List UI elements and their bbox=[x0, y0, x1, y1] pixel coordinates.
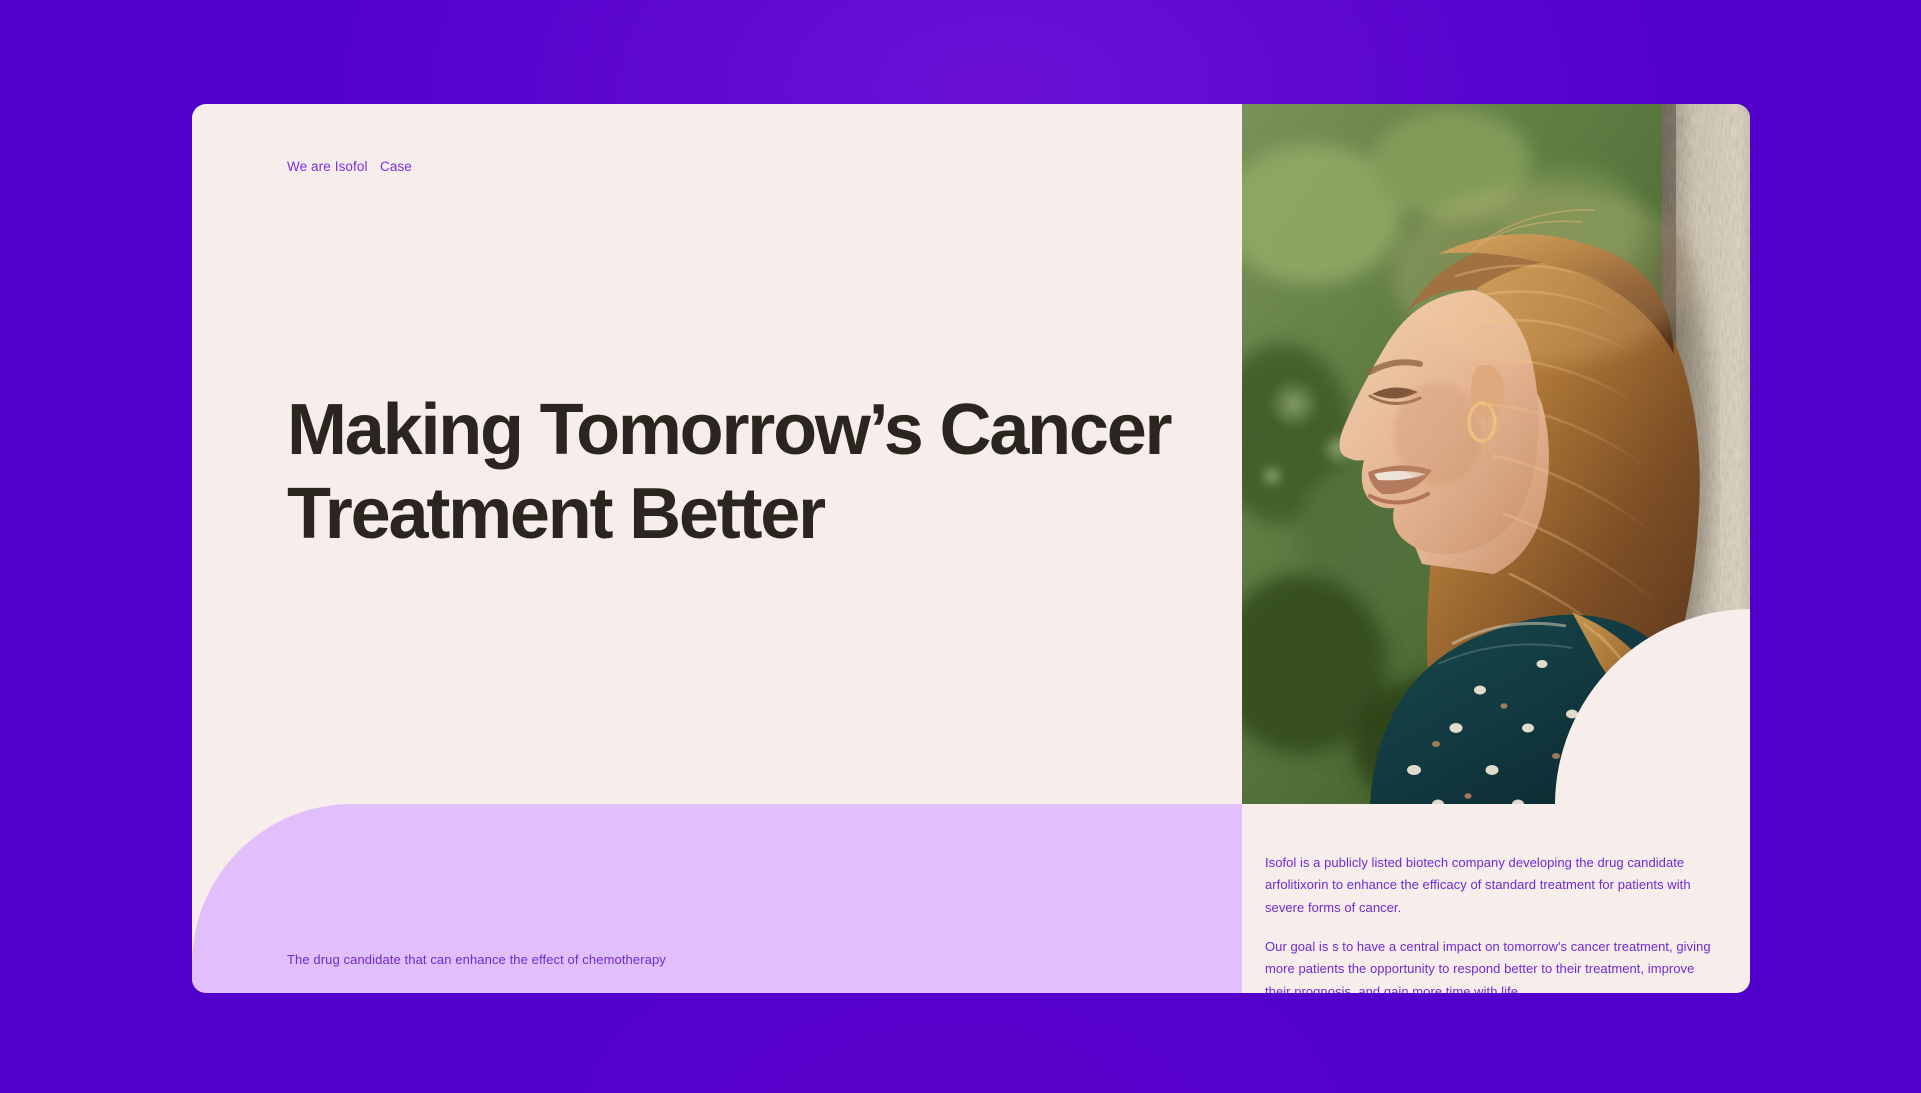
about-paragraph-1: Isofol is a publicly listed biotech comp… bbox=[1265, 852, 1717, 919]
about-copy: Isofol is a publicly listed biotech comp… bbox=[1265, 852, 1717, 993]
hero-photo bbox=[1242, 104, 1750, 804]
main-navigation: We are Isofol Case bbox=[287, 159, 412, 174]
hero-right-column: Isofol is a publicly listed biotech comp… bbox=[1242, 104, 1750, 993]
nav-item-case[interactable]: Case bbox=[380, 159, 412, 174]
hero-card: We are Isofol Case Making Tomorrow’s Can… bbox=[192, 104, 1750, 993]
nav-item-we-are-isofol[interactable]: We are Isofol bbox=[287, 159, 380, 174]
hero-caption: The drug candidate that can enhance the … bbox=[287, 952, 666, 967]
page-title: Making Tomorrow’s Cancer Treatment Bette… bbox=[287, 389, 1187, 556]
hero-left-column: We are Isofol Case Making Tomorrow’s Can… bbox=[192, 104, 1242, 993]
lavender-panel: The drug candidate that can enhance the … bbox=[192, 804, 1242, 993]
about-paragraph-2: Our goal is s to have a central impact o… bbox=[1265, 936, 1717, 993]
